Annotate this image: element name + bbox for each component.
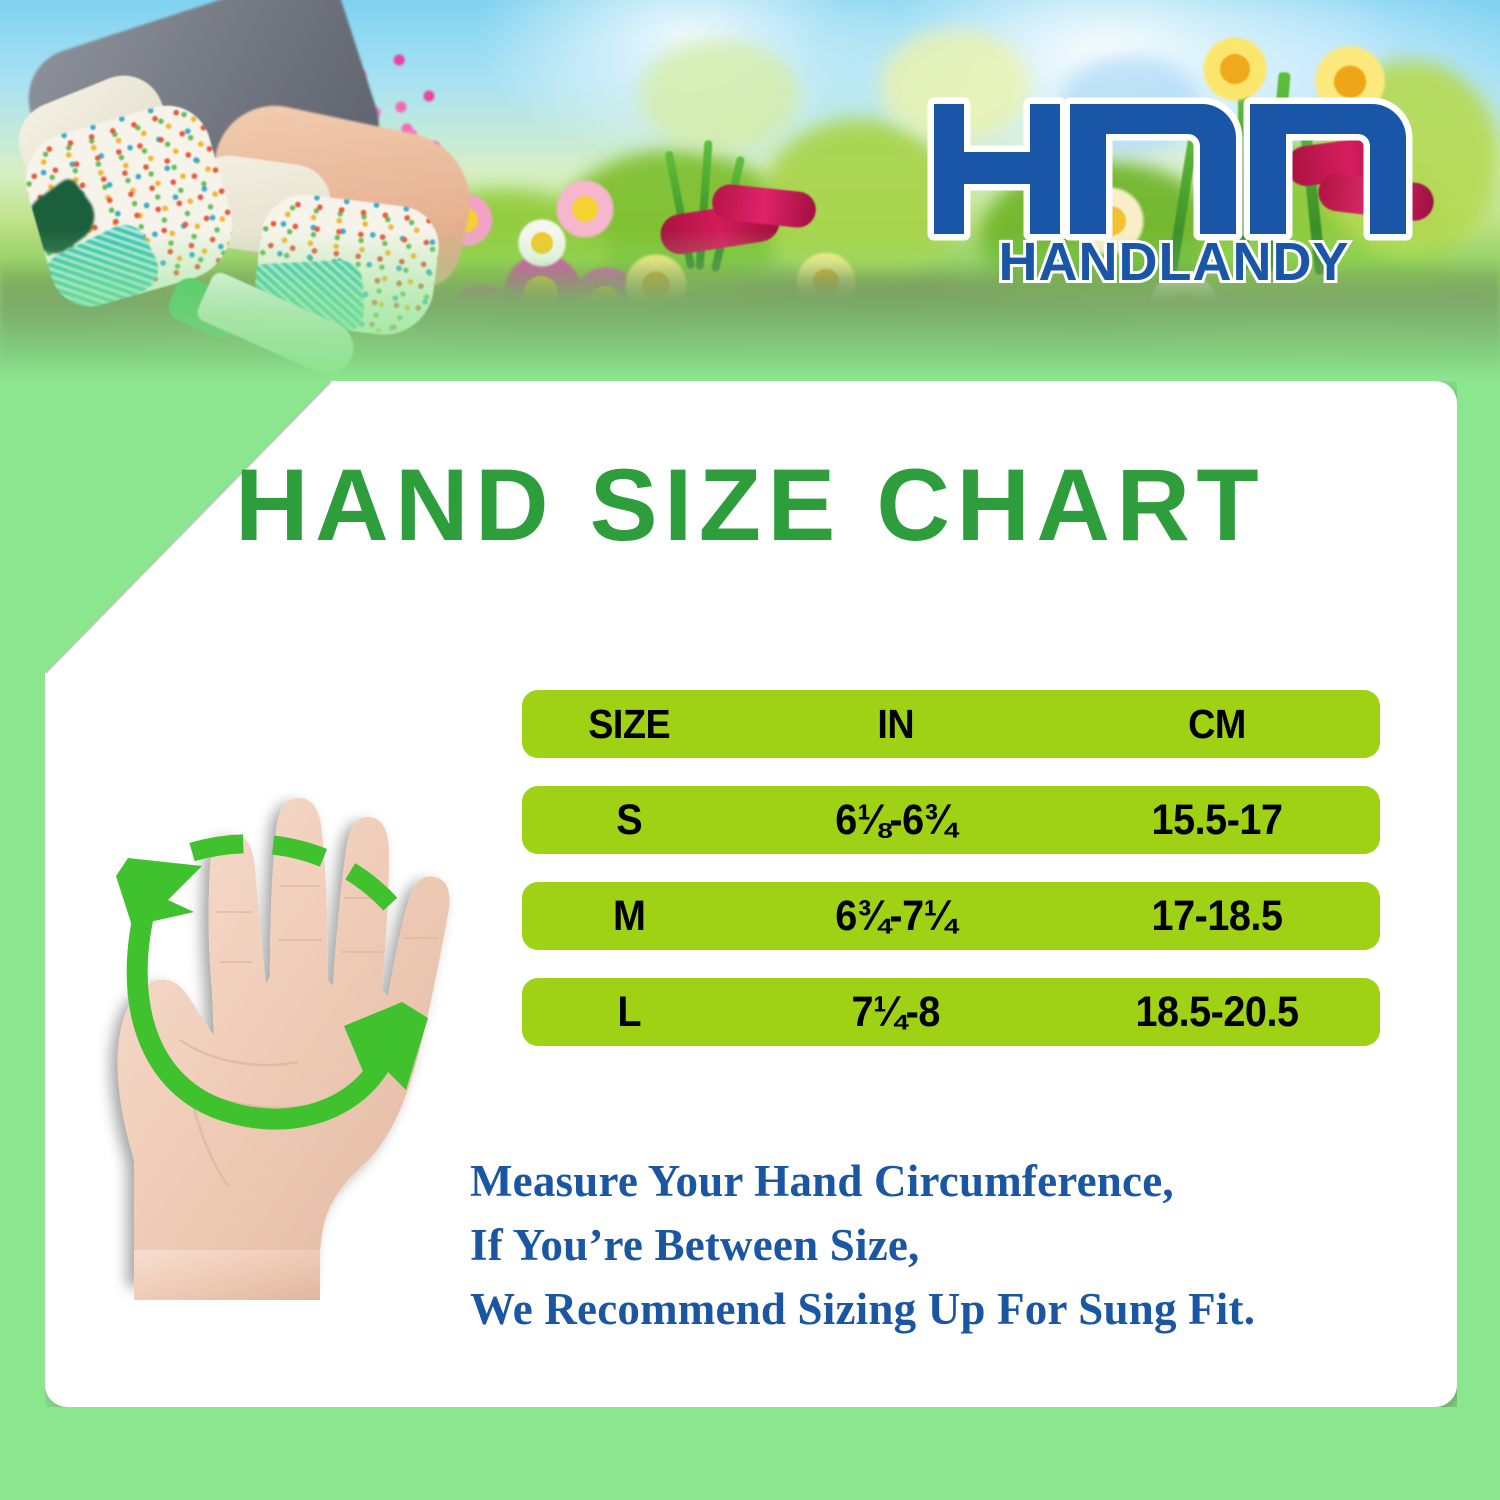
- table-row: M 6¾-7¼ 17-18.5: [522, 882, 1380, 950]
- handlandy-logo: HANDLANDY: [918, 88, 1430, 288]
- page-title: HAND SIZE CHART: [0, 455, 1500, 555]
- size-table: SIZE IN CM S 6⅛-6¾ 15.5-17 M 6¾-7¼ 17-18…: [522, 690, 1380, 1046]
- hd-monogram-icon: [934, 104, 1406, 234]
- hand-illustration: [72, 690, 472, 1300]
- cell-cm: 18.5-20.5: [1067, 991, 1367, 1034]
- sizing-note-line-3: We Recommend Sizing Up For Sung Fit.: [470, 1278, 1370, 1342]
- foliage-blob: [640, 40, 800, 150]
- cell-in: 6¾-7¼: [749, 895, 1041, 938]
- sizing-note: Measure Your Hand Circumference, If You’…: [470, 1150, 1370, 1342]
- cell-size: L: [531, 991, 728, 1034]
- cell-cm: 15.5-17: [1067, 799, 1367, 842]
- cell-in: 6⅛-6¾: [749, 799, 1041, 842]
- hand-size-chart-page: HANDLANDY HAND SIZE CHART: [0, 0, 1500, 1500]
- table-row: S 6⅛-6¾ 15.5-17: [522, 786, 1380, 854]
- sizing-note-line-2: If You’re Between Size,: [470, 1214, 1370, 1278]
- column-header-cm: CM: [1067, 704, 1367, 745]
- cell-in: 7¼-8: [749, 991, 1041, 1034]
- page-title-text: HAND SIZE CHART: [235, 455, 1265, 555]
- column-header-in: IN: [749, 704, 1041, 745]
- table-header-row: SIZE IN CM: [522, 690, 1380, 758]
- brand-wordmark: HANDLANDY: [999, 232, 1350, 288]
- wrist: [134, 1250, 320, 1300]
- column-header-size: SIZE: [531, 704, 728, 745]
- arrow-head-left: [116, 858, 202, 926]
- cell-size: M: [531, 895, 728, 938]
- sizing-note-line-1: Measure Your Hand Circumference,: [470, 1150, 1370, 1214]
- table-row: L 7¼-8 18.5-20.5: [522, 978, 1380, 1046]
- cell-size: S: [531, 799, 728, 842]
- cell-cm: 17-18.5: [1067, 895, 1367, 938]
